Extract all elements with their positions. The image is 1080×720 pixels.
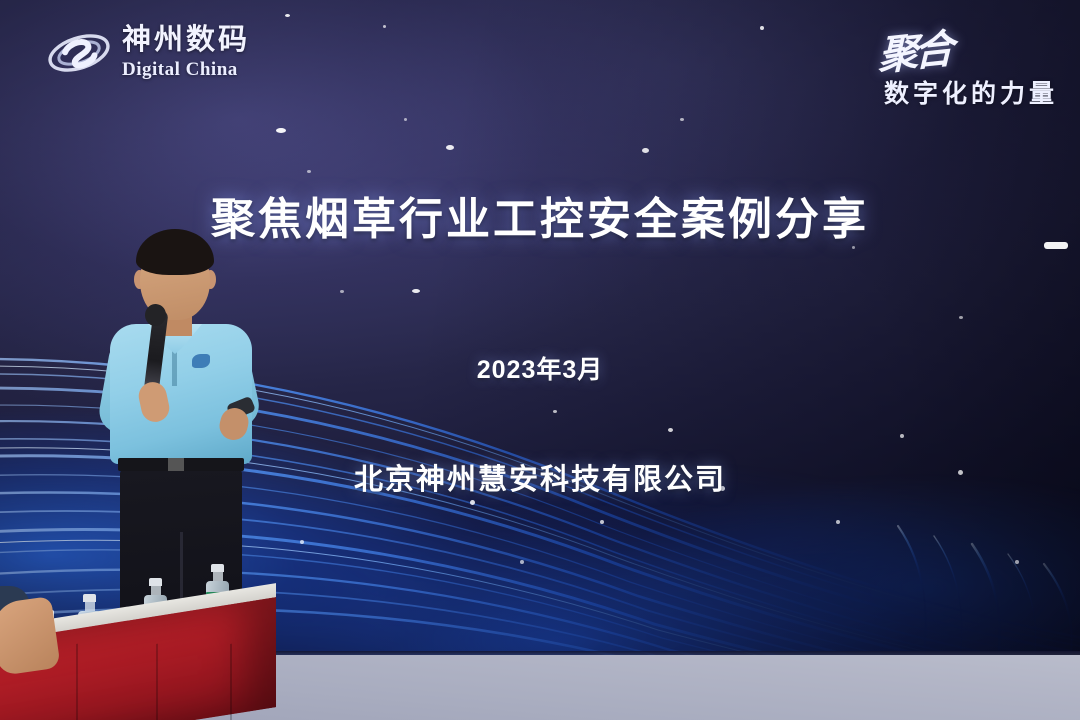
- bottle-cap: [83, 594, 96, 602]
- conference-stage-photo: 聚焦烟草行业工控安全案例分享 2023年3月 北京神州慧安科技有限公司 神州数码…: [0, 0, 1080, 720]
- brand-text: 神州数码 Digital China: [122, 26, 250, 81]
- bottle-neck: [213, 572, 223, 581]
- event-slogan: 聚合 数字化的力量: [878, 20, 1058, 110]
- belt-buckle: [168, 458, 184, 471]
- brand-name-en: Digital China: [122, 60, 250, 79]
- digital-china-swirl-icon: [46, 22, 112, 84]
- slogan-calligraphy: 聚合: [878, 16, 950, 82]
- brand-logo: 神州数码 Digital China: [46, 22, 250, 84]
- presenter-hair: [136, 229, 214, 275]
- shirt-logo-icon: [192, 354, 210, 368]
- slogan-subtitle: 数字化的力量: [878, 74, 1058, 110]
- bottle-cap: [211, 564, 224, 572]
- bottle-cap: [149, 578, 162, 586]
- tablecloth-fold: [76, 644, 78, 720]
- bottle-neck: [151, 586, 161, 595]
- bottle-neck: [85, 602, 95, 611]
- seated-attendee-arm: [0, 596, 61, 676]
- tablecloth-fold: [230, 644, 232, 720]
- tablecloth-fold: [156, 644, 158, 720]
- brand-name-cn: 神州数码: [122, 26, 250, 55]
